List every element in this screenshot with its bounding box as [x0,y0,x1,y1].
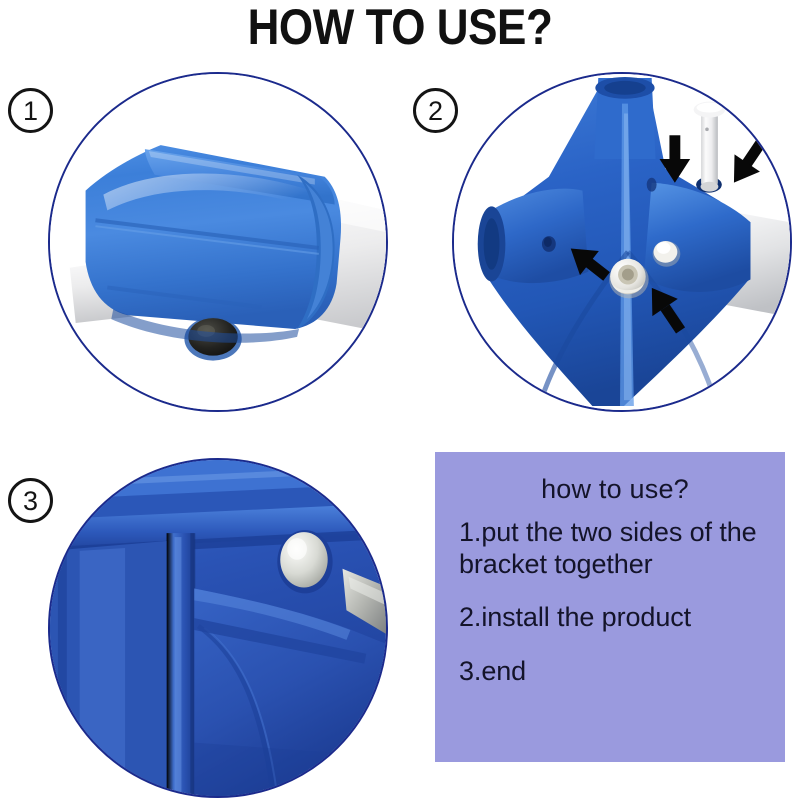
step-2-photo [452,72,792,412]
step-badge-1: 1 [8,88,53,133]
step-badge-3: 3 [8,478,53,523]
step-3-illustration [50,460,386,796]
step-1-photo [48,72,388,412]
step-3-photo [48,458,388,798]
page-title: HOW TO USE? [48,0,752,58]
instruction-step-3: 3.end [459,656,771,688]
instruction-panel: how to use? 1.put the two sides of the b… [435,452,785,762]
instruction-heading: how to use? [459,474,771,505]
instruction-step-2: 2.install the product [459,602,771,634]
step-badge-2: 2 [413,88,458,133]
step-1-illustration [50,74,386,410]
step-2-illustration [454,74,790,410]
instruction-step-1: 1.put the two sides of the bracket toget… [459,517,771,580]
